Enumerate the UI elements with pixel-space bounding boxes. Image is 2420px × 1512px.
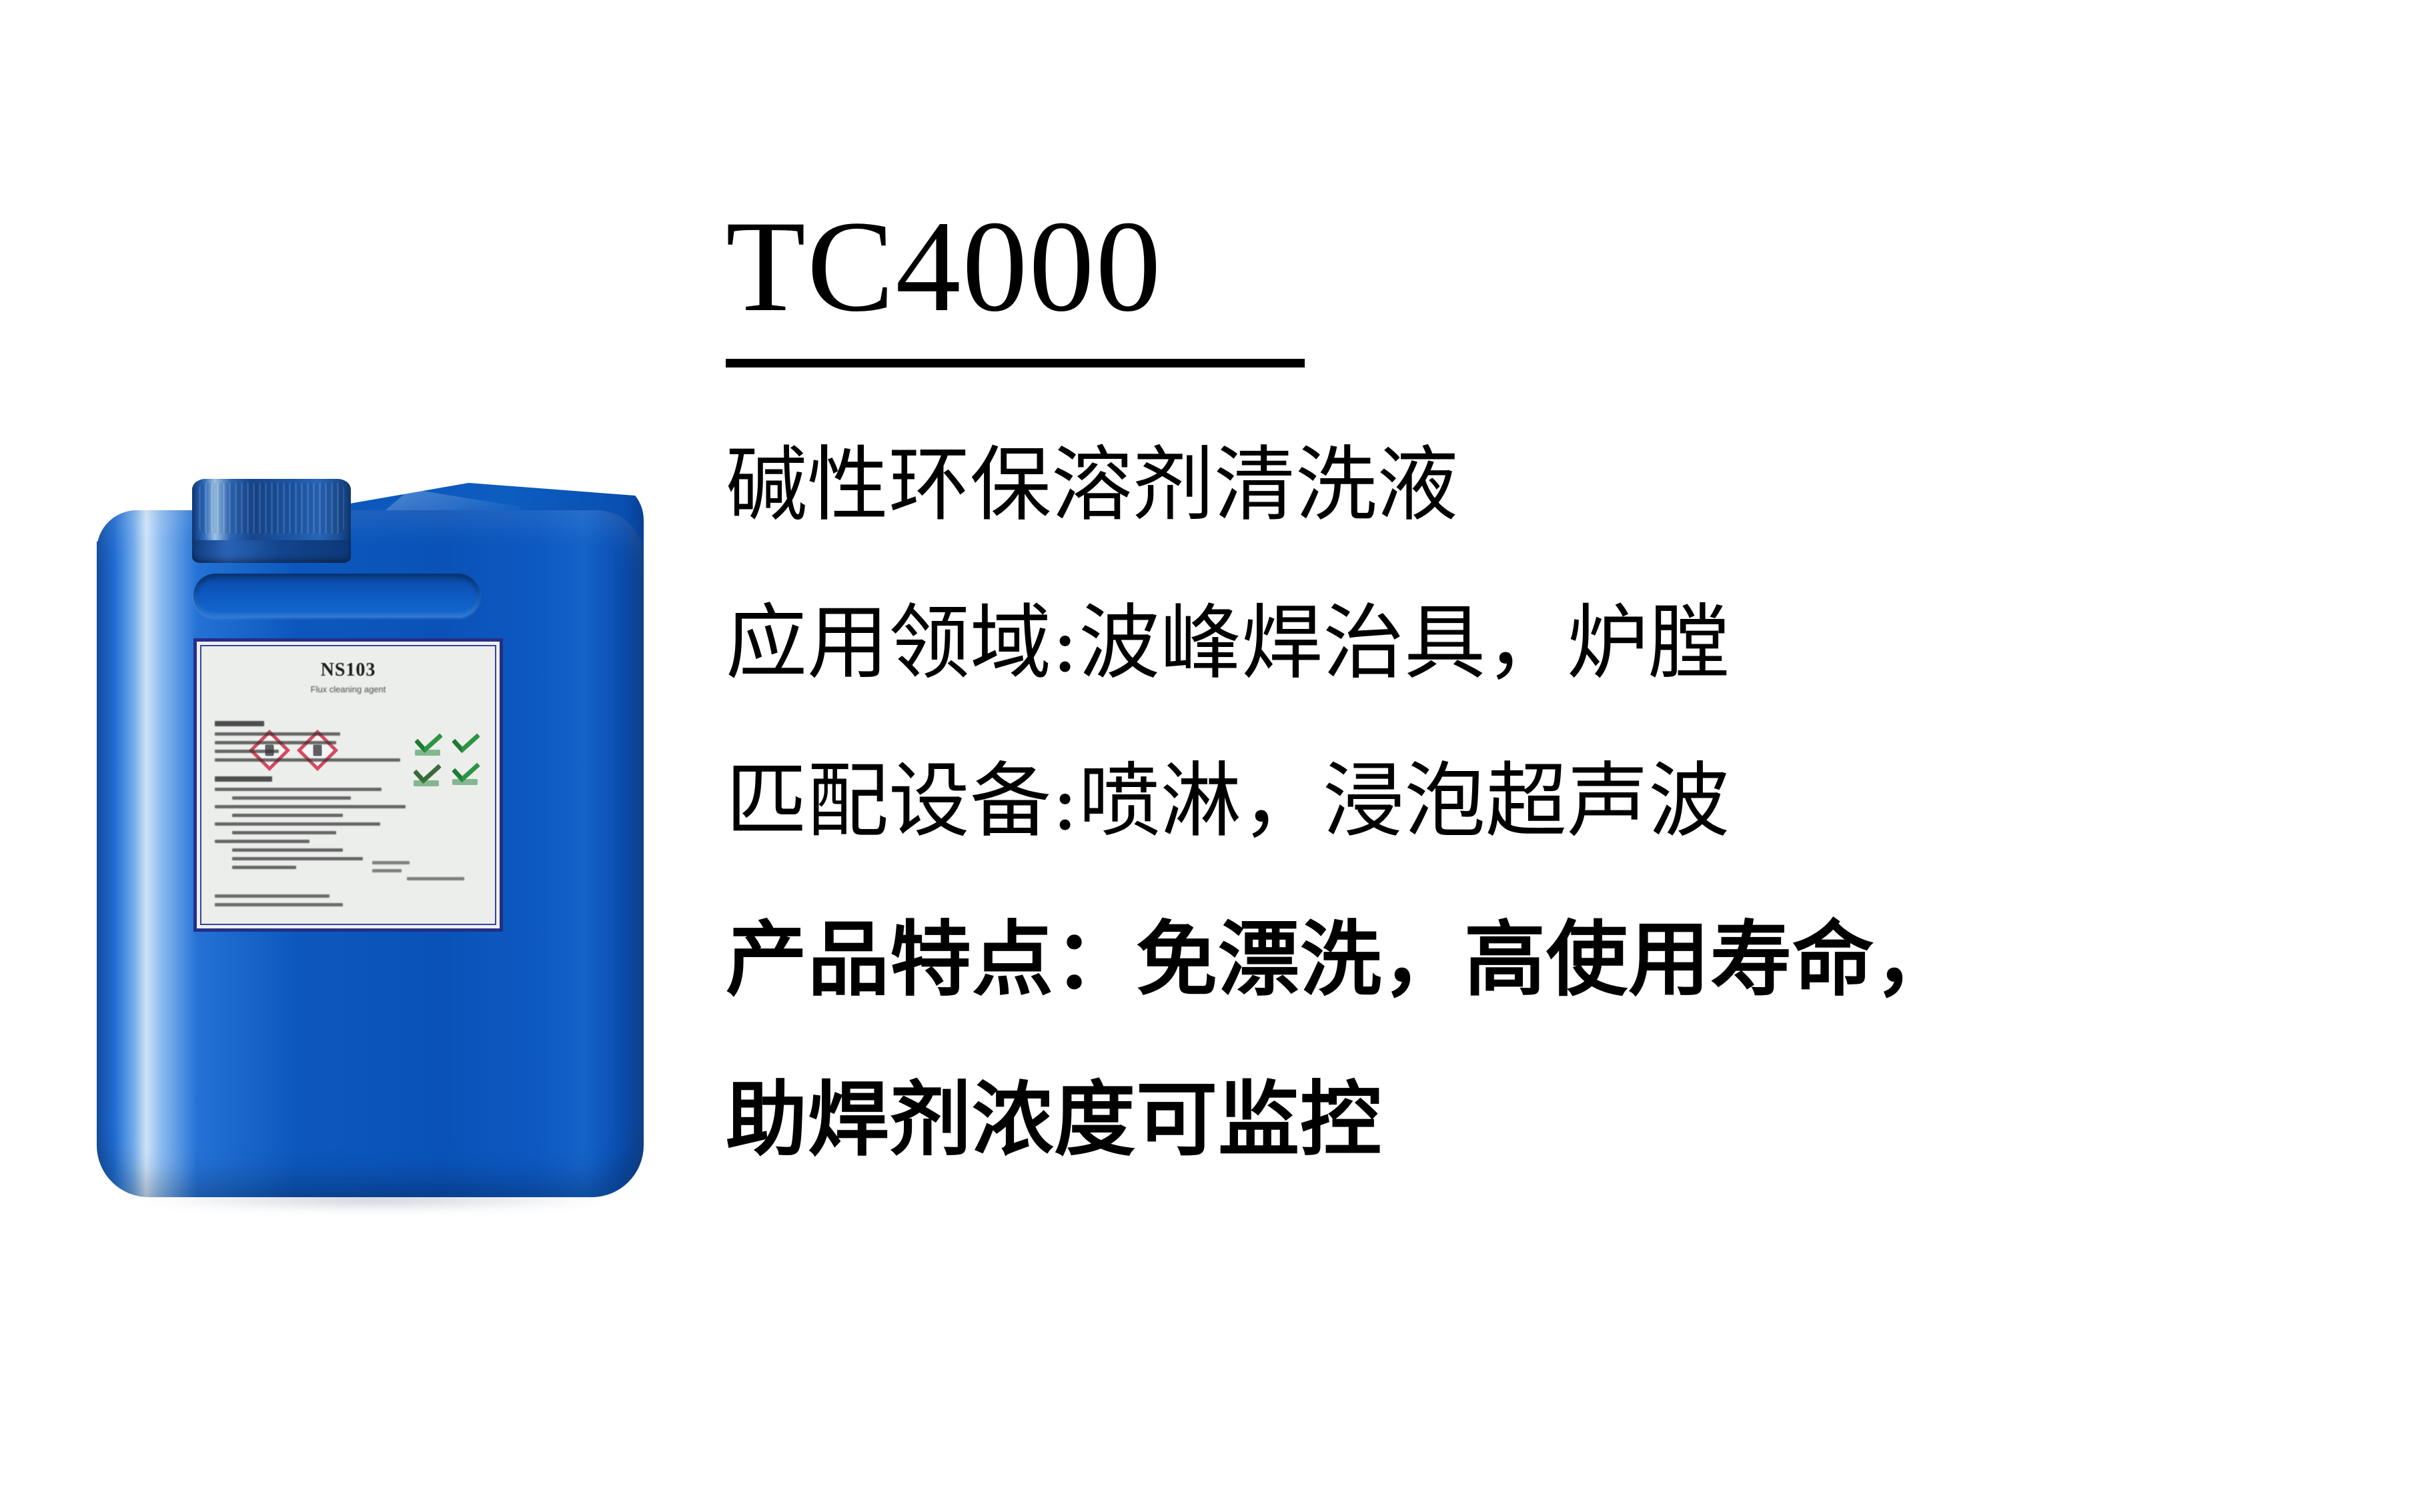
label-eco-marks: [408, 729, 494, 786]
product-label: NS103 Flux cleaning agent: [193, 638, 503, 932]
product-text-column: TC4000 碱性环保溶剂清洗液 应用领域:波峰焊治具，炉膛 匹配设备:喷淋，浸…: [726, 200, 2380, 1160]
product-image: NS103 Flux cleaning agent: [80, 440, 680, 1227]
spec-features-line-1: 产品特点：免漂洗，高使用寿命，: [726, 918, 2380, 1000]
title-underline: [726, 359, 1305, 367]
product-label-inner: NS103 Flux cleaning agent: [200, 645, 496, 925]
spec-features-line-2: 助焊剂浓度可监控: [726, 1078, 2380, 1160]
label-body-text: [215, 721, 415, 874]
spec-equipment: 匹配设备:喷淋，浸泡超声波: [726, 760, 2380, 842]
page-title: TC4000: [726, 200, 2380, 333]
jerrycan-grip-handle: [193, 574, 480, 618]
green-check-icon: [450, 758, 480, 785]
cap-ring: [192, 540, 351, 563]
label-footer: [215, 894, 498, 912]
spec-application: 应用领域:波峰焊治具，炉膛: [726, 602, 2380, 684]
product-slide: NS103 Flux cleaning agent: [0, 0, 2420, 1512]
green-leaf-icon: [411, 760, 442, 786]
label-product-code: NS103: [213, 660, 483, 681]
label-product-subtitle: Flux cleaning agent: [213, 684, 483, 694]
label-net-weight-block: [372, 861, 486, 885]
cap-ridges: [199, 483, 344, 534]
green-check-icon: [450, 729, 480, 756]
green-check-icon: [412, 729, 443, 756]
spec-description: 碱性环保溶剂清洗液: [726, 444, 2380, 526]
product-shadow: [140, 1189, 607, 1211]
